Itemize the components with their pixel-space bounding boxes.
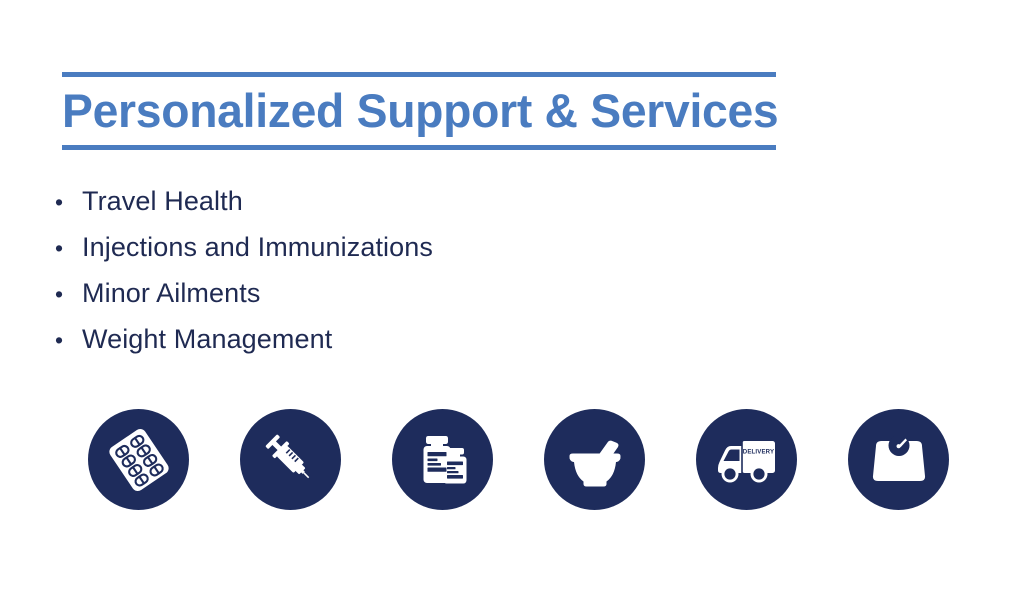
weight-scale-icon xyxy=(868,429,930,491)
bullet-marker-icon: • xyxy=(55,179,82,225)
list-item-label: Minor Ailments xyxy=(82,270,260,316)
truck-body-text: DELIVERY xyxy=(742,448,773,455)
list-item: • Minor Ailments xyxy=(55,270,935,316)
list-item: • Injections and Immunizations xyxy=(55,224,935,270)
title-block: Personalized Support & Services xyxy=(62,72,776,150)
bullet-marker-icon: • xyxy=(55,225,82,271)
services-bullet-list: • Travel Health • Injections and Immuniz… xyxy=(55,178,935,362)
icon-badge-weight-scale xyxy=(848,409,949,510)
icon-badge-medicine-bottles xyxy=(392,409,493,510)
title-rule-bottom xyxy=(62,145,776,150)
icon-badge-blister-pack xyxy=(88,409,189,510)
service-icon-row: DELIVERY xyxy=(88,409,949,510)
bullet-marker-icon: • xyxy=(55,317,82,363)
page-title: Personalized Support & Services xyxy=(62,77,765,145)
bullet-marker-icon: • xyxy=(55,271,82,317)
slide-canvas: Personalized Support & Services • Travel… xyxy=(0,0,1025,590)
icon-badge-delivery-truck: DELIVERY xyxy=(696,409,797,510)
medicine-bottles-icon xyxy=(412,429,474,491)
list-item: • Travel Health xyxy=(55,178,935,224)
delivery-truck-icon: DELIVERY xyxy=(714,427,780,493)
list-item: • Weight Management xyxy=(55,316,935,362)
syringe-icon xyxy=(260,429,322,491)
icon-badge-mortar-pestle xyxy=(544,409,645,510)
blister-pack-icon xyxy=(108,429,170,491)
list-item-label: Injections and Immunizations xyxy=(82,224,433,270)
icon-badge-syringe xyxy=(240,409,341,510)
list-item-label: Travel Health xyxy=(82,178,243,224)
list-item-label: Weight Management xyxy=(82,316,332,362)
mortar-pestle-icon xyxy=(563,428,627,492)
